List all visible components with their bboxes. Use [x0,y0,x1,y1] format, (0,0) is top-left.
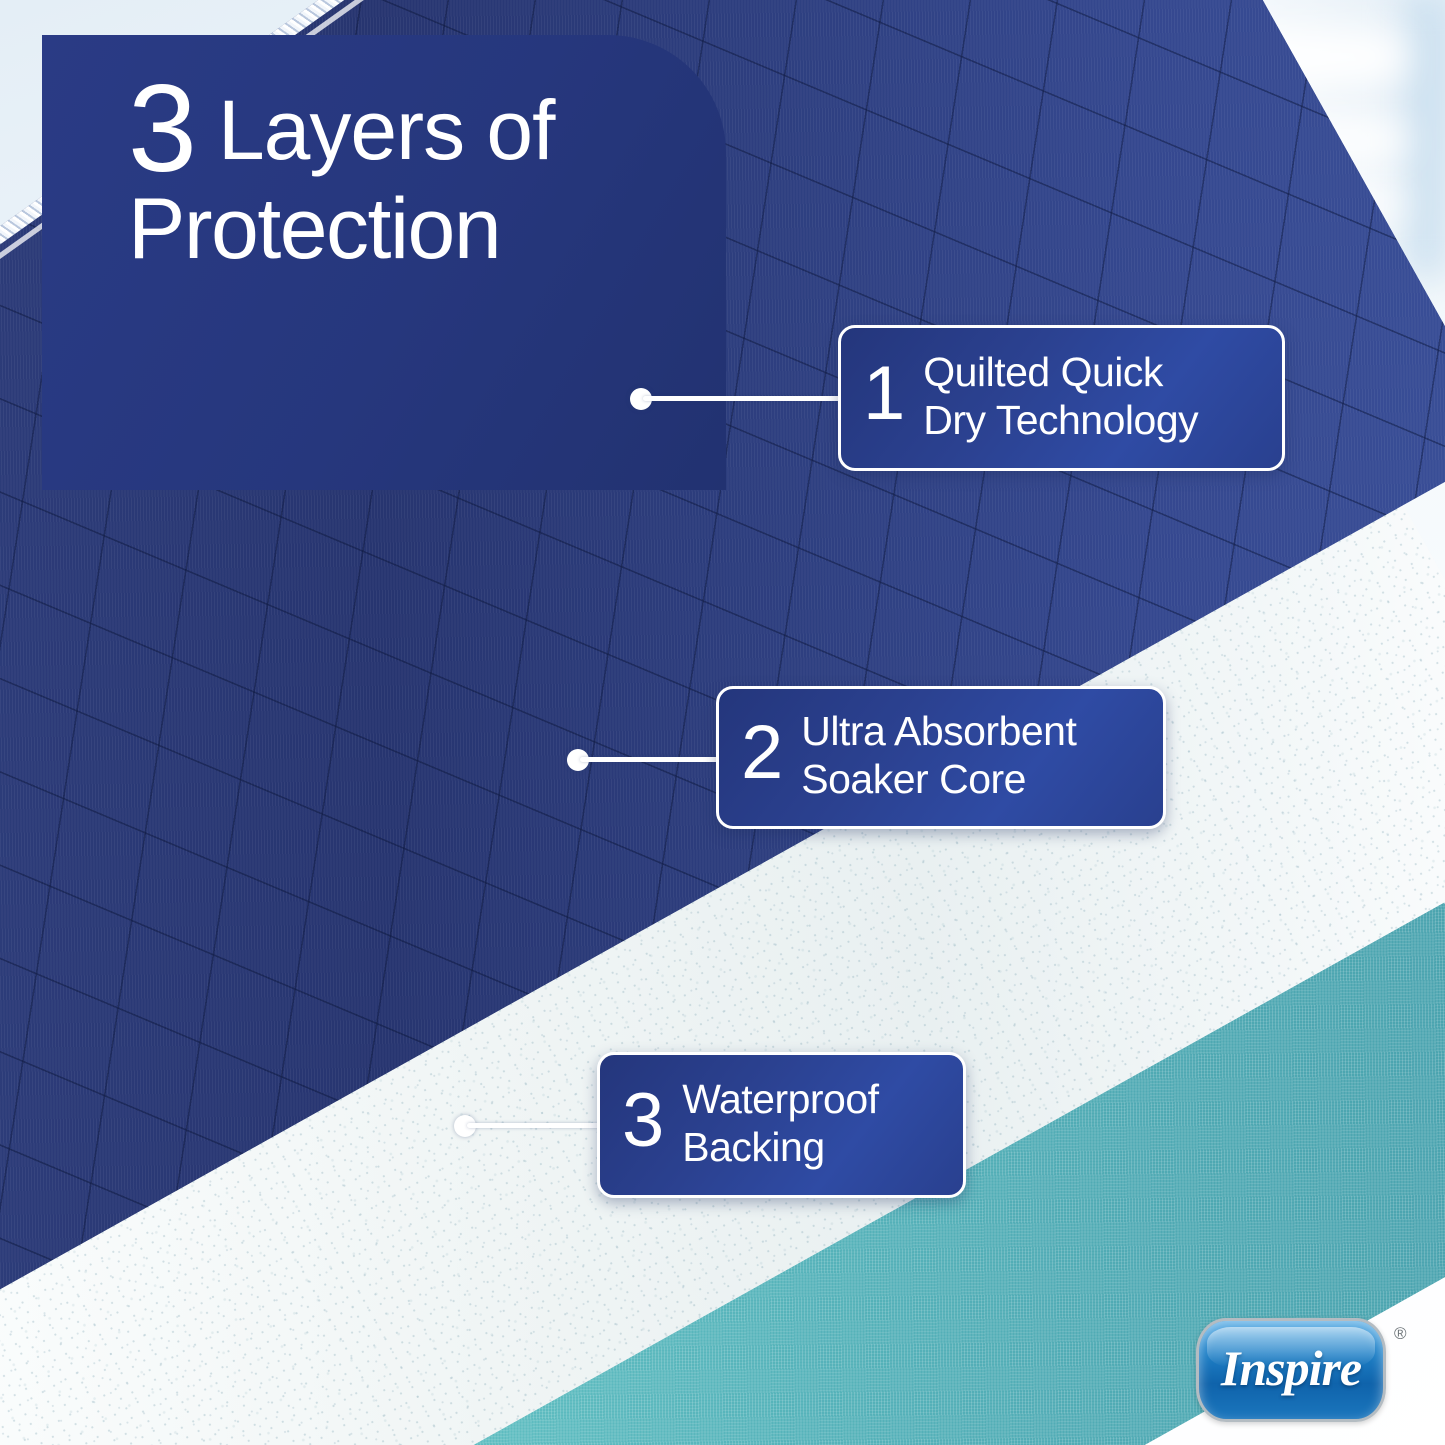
callout-text-2-line1: Ultra Absorbent [801,708,1076,756]
callout-text-1: Quilted Quick Dry Technology [923,349,1198,444]
callout-text-3-line1: Waterproof [682,1076,878,1124]
leader-line-2 [580,757,720,762]
page-title: 3Layers of [128,74,688,186]
callout-text-3: Waterproof Backing [682,1076,878,1171]
callout-text-2-line2: Soaker Core [801,756,1076,804]
callout-ultra-absorbent-soaker-core: 2 Ultra Absorbent Soaker Core [716,686,1166,829]
trademark-symbol: ® [1394,1324,1407,1344]
leader-line-1 [643,396,843,401]
header-number: 3 [128,74,196,186]
callout-number-2: 2 [741,715,781,797]
callout-waterproof-backing: 3 Waterproof Backing [597,1052,966,1198]
brand-logo: Inspire ® [1196,1318,1386,1422]
callout-text-3-line2: Backing [682,1124,878,1172]
callout-text-1-line2: Dry Technology [923,397,1198,445]
leader-line-3 [467,1123,601,1128]
product-infographic: 3Layers of Protection 1 Quilted Quick Dr… [0,0,1445,1445]
callout-text-1-line1: Quilted Quick [923,349,1198,397]
header-title-line2: Protection [128,186,500,272]
callout-quilted-quick-dry-technology: 1 Quilted Quick Dry Technology [838,325,1285,471]
brand-name: Inspire [1196,1318,1386,1422]
callout-number-1: 1 [863,356,903,438]
callout-number-3: 3 [622,1083,662,1165]
callout-text-2: Ultra Absorbent Soaker Core [801,708,1076,803]
header-title-line1: Layers of [218,83,555,177]
